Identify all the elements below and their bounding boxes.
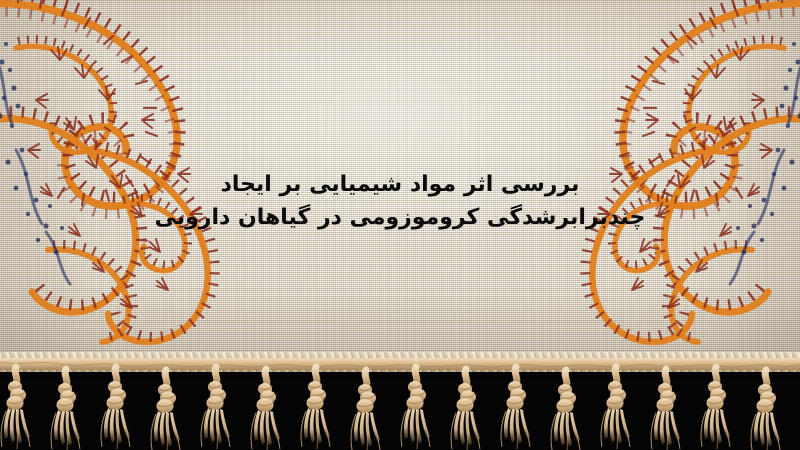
slide-canvas: بررسی اثر مواد شیمیایی بر ایجاد چندبرابر… — [0, 0, 800, 450]
title-line-2: چندبرابرشدگی کروموزومی در گیاهان دارویی — [0, 201, 800, 234]
black-background-strip — [0, 368, 800, 450]
title-line-1: بررسی اثر مواد شیمیایی بر ایجاد — [0, 168, 800, 201]
fabric-selvedge-highlight — [0, 352, 800, 372]
slide-title: بررسی اثر مواد شیمیایی بر ایجاد چندبرابر… — [0, 168, 800, 234]
